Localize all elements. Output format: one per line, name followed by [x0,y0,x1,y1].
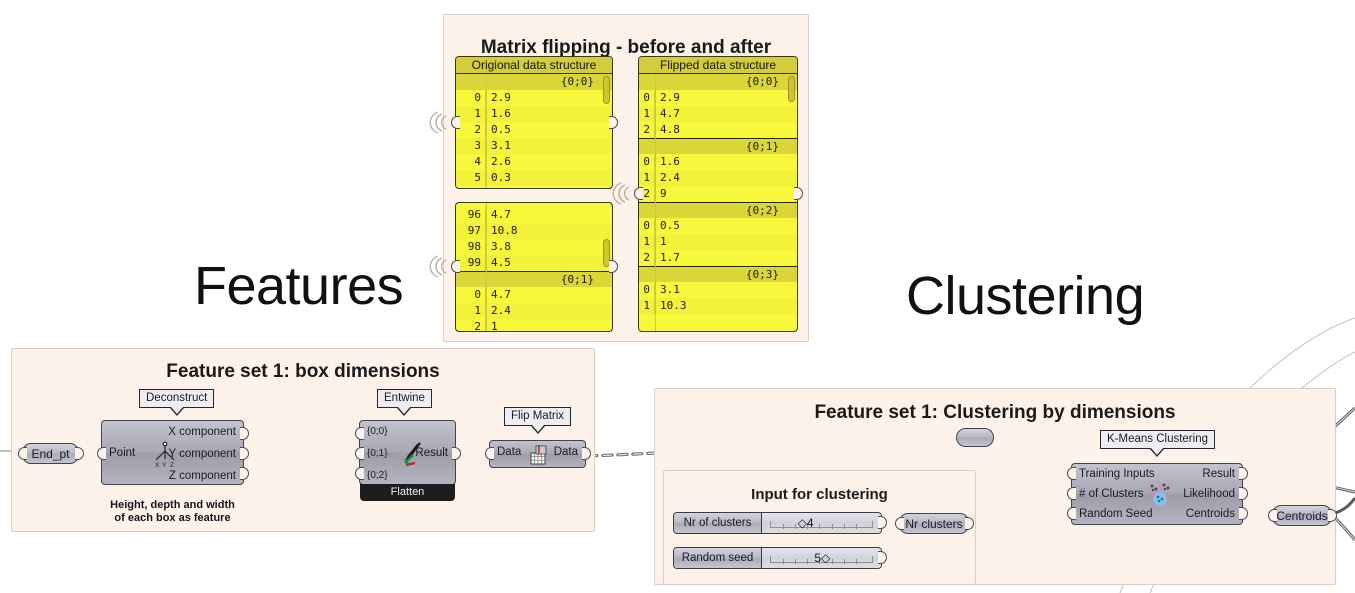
note-line-2: of each box as feature [101,512,244,525]
table-row: 11.6 [456,106,612,122]
kmeans-output-centroids[interactable]: Centroids [1183,504,1235,524]
nr-clusters-input-pin[interactable] [895,517,904,530]
kmeans-inputs: Training Inputs # of Clusters Random See… [1079,464,1155,524]
panel-input-pin[interactable] [451,260,460,273]
input-panel-title: Input for clustering [664,486,975,503]
row-value: 3.8 [486,239,511,255]
kmeans-seed-pin[interactable] [1067,507,1076,520]
entwine-node[interactable]: {0;0} {0;1} {0;2} Result Flatten [359,420,456,485]
table-row: 29 [639,186,797,202]
end-pt-param[interactable]: End_pt [22,443,79,464]
row-index: 0 [639,154,655,170]
row-index: 4 [456,154,486,170]
kmeans-outputs: Result Likelihood Centroids [1183,464,1235,524]
features-group-title: Feature set 1: box dimensions [12,361,594,383]
flip-matrix-icon [527,444,551,468]
row-value: 4.8 [655,122,680,138]
deconstruct-inputs: Point [109,442,135,464]
flip-matrix-output[interactable]: Data [554,446,578,458]
kmeans-cluster-icon [1145,478,1175,510]
deconstruct-nickname-bubble: Deconstruct [139,389,214,408]
table-row: 02.9 [456,90,612,106]
row-value: 3.1 [486,138,511,154]
kmeans-node[interactable]: Training Inputs # of Clusters Random See… [1071,463,1243,525]
table-row: 33.1 [456,138,612,154]
row-value: 0.5 [486,122,511,138]
kmeans-output-result[interactable]: Result [1183,464,1235,484]
flipped-data-panel[interactable]: Flipped data structure {0;0} 02.9 14.7 2… [638,56,798,332]
flip-matrix-nickname-bubble: Flip Matrix [504,407,571,426]
table-row: 983.8 [456,239,612,255]
row-value: 1 [655,234,667,250]
centroids-param[interactable]: Centroids [1272,505,1332,526]
entwine-input-pin-2[interactable] [355,467,364,480]
panel-input-pin[interactable] [634,187,643,200]
branch-header: {0;0} [639,74,797,90]
deconstruct-note: Height, depth and width of each box as f… [101,499,244,525]
panel-input-pin[interactable] [451,116,460,129]
note-line-1: Height, depth and width [101,499,244,512]
slider-ticks [770,521,873,528]
deconstruct-input-point[interactable]: Point [109,442,135,464]
row-index: 0 [456,287,486,303]
panel-divider [486,203,487,331]
original-data-panel-top[interactable]: Origional data structure {0;0} 02.9 11.6… [455,56,613,189]
row-index: 2 [639,122,655,138]
table-row: 11 [639,234,797,250]
kmeans-training-pin[interactable] [1067,467,1076,480]
kmeans-input-seed[interactable]: Random Seed [1079,504,1155,524]
entwine-inputs: {0;0} {0;1} {0;2} [367,421,388,487]
table-row: 04.7 [456,287,612,303]
row-index: 2 [639,250,655,266]
row-value: 4.7 [655,106,680,122]
flipped-panel-title: Flipped data structure [639,57,797,74]
row-index: 1 [456,106,486,122]
row-index: 2 [456,122,486,138]
panel-scrollbar[interactable] [788,76,795,102]
table-row: 02.9 [639,90,797,106]
row-value: 4.7 [486,207,511,223]
row-index: 0 [639,218,655,234]
random-seed-slider[interactable]: Random seed 5◇ [673,547,882,569]
table-row: 12.4 [639,170,797,186]
panel-divider [486,74,487,188]
entwine-input-0[interactable]: {0;0} [367,421,388,443]
row-value: 10.3 [655,298,687,314]
entwine-nickname-bubble: Entwine [377,389,432,408]
table-row: 20.5 [456,122,612,138]
row-value: 10.8 [486,223,518,239]
row-value: 1.6 [655,154,680,170]
row-index: 5 [456,170,486,186]
table-row: 21.7 [639,250,797,266]
nr-of-clusters-slider[interactable]: Nr of clusters ◇4 [673,512,882,534]
flip-matrix-node[interactable]: Data Data [489,440,586,468]
branch-header: {0;1} [639,138,797,154]
row-value: 0.5 [655,218,680,234]
row-value: 1 [486,319,498,332]
heading-features: Features [194,255,403,317]
row-index: 3 [456,138,486,154]
table-row: 03.1 [639,282,797,298]
row-value: 4.7 [486,287,511,303]
kmeans-input-training[interactable]: Training Inputs [1079,464,1155,484]
table-row: 21 [456,319,612,332]
row-index: 0 [639,90,655,106]
svg-text:X: X [155,462,160,469]
entwine-flatten-bar[interactable]: Flatten [360,484,455,501]
entwine-icon [402,441,424,467]
panel-divider [655,74,656,331]
slider-grip[interactable]: 5◇ [814,551,830,566]
table-row: 964.7 [456,207,612,223]
row-value: 3.1 [655,282,680,298]
row-index: 97 [456,223,486,239]
row-index: 1 [639,106,655,122]
entwine-input-pin-0[interactable] [355,427,364,440]
xyz-axis-icon: X Y Z [150,439,180,469]
svg-text:Y: Y [162,462,167,469]
slider-track[interactable]: ◇4 [762,513,881,533]
row-value: 2.4 [486,303,511,319]
entwine-input-pin-1[interactable] [355,447,364,460]
svg-text:Z: Z [170,462,174,469]
end-pt-label: End_pt [31,447,69,461]
row-value: 2.9 [486,90,511,106]
slider-value: 4 [807,516,814,530]
entwine-input-1[interactable]: {0;1} [367,443,388,465]
slider-label: Nr of clusters [674,513,762,533]
slider-value: 5 [814,551,821,565]
table-row: 24.8 [639,122,797,138]
deconstruct-node[interactable]: Point X component Y component Z componen… [101,420,244,485]
slider-label: Random seed [674,548,762,568]
relay-node[interactable] [956,428,994,447]
branch-header: {0;3} [639,266,797,282]
table-row: 42.6 [456,154,612,170]
row-index: 1 [639,298,655,314]
table-row: 01.6 [639,154,797,170]
kmeans-clusters-pin[interactable] [1067,487,1076,500]
slider-track[interactable]: 5◇ [762,548,881,568]
flip-matrix-input[interactable]: Data [497,446,521,458]
table-row: 14.7 [639,106,797,122]
grasshopper-canvas[interactable]: Features Clustering Matrix flipping - be… [0,0,1355,593]
end-pt-input-pin[interactable] [18,447,27,460]
row-index: 1 [456,303,486,319]
row-index: 96 [456,207,486,223]
row-index: 1 [639,234,655,250]
table-row: 994.5 [456,255,612,271]
kmeans-input-clusters[interactable]: # of Clusters [1079,484,1155,504]
flip-matrix-input-pin[interactable] [485,447,494,460]
heading-clustering: Clustering [906,265,1144,327]
kmeans-nickname-bubble: K-Means Clustering [1100,430,1215,449]
centroids-label: Centroids [1276,509,1327,523]
centroids-input-pin[interactable] [1268,509,1277,522]
row-index: 0 [456,90,486,106]
kmeans-output-likelihood[interactable]: Likelihood [1183,484,1235,504]
row-index: 1 [639,170,655,186]
table-row: 9710.8 [456,223,612,239]
original-data-panel-bottom[interactable]: 964.7 9710.8 983.8 994.5 {0;1} 04.7 12.4… [455,202,613,332]
clustering-group-title: Feature set 1: Clustering by dimensions [655,402,1335,424]
row-index: 0 [639,282,655,298]
row-index: 2 [456,319,486,332]
table-row: 50.3 [456,170,612,186]
deconstruct-point-pin[interactable] [97,447,106,460]
table-row: 12.4 [456,303,612,319]
row-value: 1.6 [486,106,511,122]
branch-header: {0;1} [456,271,612,287]
nr-clusters-param[interactable]: Nr clusters [899,513,969,534]
branch-header: {0;0} [456,74,612,90]
row-value: 9 [655,186,667,202]
row-value: 2.6 [486,154,511,170]
table-row: 00.5 [639,218,797,234]
row-value: 2.9 [655,90,680,106]
row-value: 4.5 [486,255,511,271]
panel-scrollbar[interactable] [603,76,610,104]
original-panel-title: Origional data structure [456,57,612,74]
row-value: 0.3 [486,170,511,186]
branch-header: {0;2} [639,202,797,218]
slider-grip[interactable]: ◇4 [798,516,814,531]
row-value: 1.7 [655,250,680,266]
row-value: 2.4 [655,170,680,186]
nr-clusters-label: Nr clusters [905,517,962,531]
row-index: 99 [456,255,486,271]
row-index: 98 [456,239,486,255]
table-row: 110.3 [639,298,797,314]
